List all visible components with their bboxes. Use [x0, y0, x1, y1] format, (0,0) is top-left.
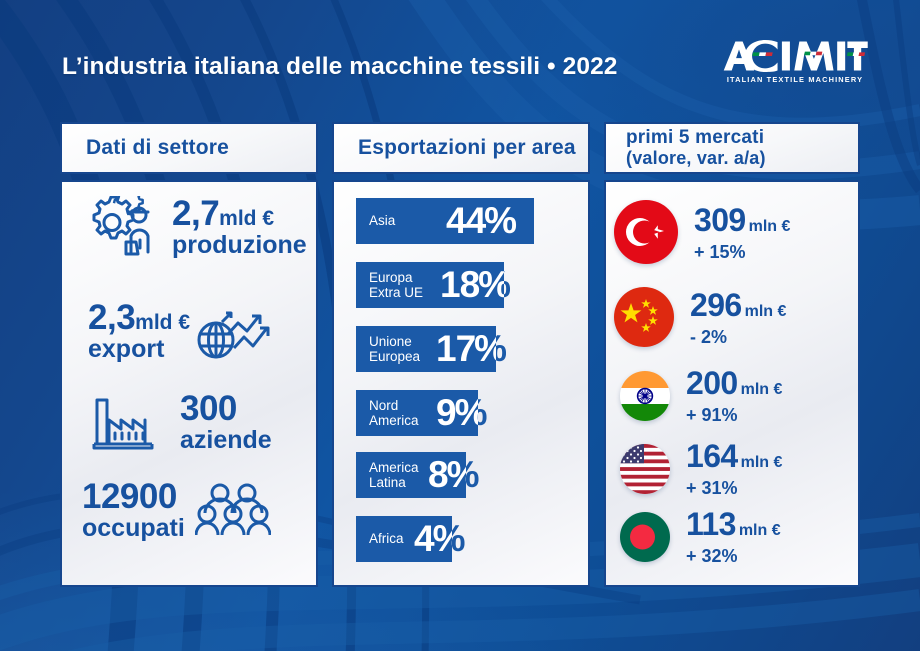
- bar-number-asia: 44: [446, 200, 485, 242]
- sector-card-header: Dati di settore: [60, 122, 318, 174]
- markets-card-header: primi 5 mercati (valore, var. a/a): [604, 122, 860, 174]
- bangladesh-flag-icon: [620, 512, 670, 562]
- bar-row-nord-america: Nord America 9% 9%: [356, 390, 536, 436]
- bar-percent-asia: %: [484, 200, 516, 242]
- market-india-value: 200: [686, 365, 738, 401]
- bar-number-nord-america: 9: [436, 392, 456, 434]
- market-turkey-values: 309mln € + 15%: [694, 204, 790, 261]
- market-india: 200mln € + 91%: [620, 367, 782, 424]
- market-bangladesh: 113mln € + 32%: [620, 508, 781, 565]
- markets-card-title: primi 5 mercati: [626, 127, 764, 148]
- stat-export: 2,3mld € export: [88, 300, 272, 362]
- bar-value-unione-europea: 17%: [436, 328, 506, 370]
- market-usa-value: 164: [686, 438, 738, 474]
- market-bangladesh-value: 113: [686, 506, 736, 542]
- market-china-values: 296mln € - 2%: [690, 289, 786, 346]
- sector-card-title: Dati di settore: [62, 137, 229, 160]
- bar-label-nord-america: Nord America: [356, 398, 419, 428]
- market-turkey-variation: + 15%: [694, 243, 790, 261]
- turkey-flag-icon: [614, 200, 678, 264]
- bar-label-europa-extra-ue: Europa Extra UE: [356, 270, 423, 300]
- market-india-values: 200mln € + 91%: [686, 367, 782, 424]
- stat-produzione-label: produzione: [172, 233, 307, 257]
- markets-card-title-block: primi 5 mercati (valore, var. a/a): [606, 128, 766, 168]
- usa-flag-icon: [620, 444, 670, 494]
- logo-tagline: ITALIAN TEXTILE MACHINERY: [722, 75, 868, 84]
- bar-row-africa: Africa 4% 4%: [356, 516, 506, 562]
- acimit-logo: ITALIAN TEXTILE MACHINERY: [722, 40, 868, 88]
- stat-occupati: 12900 occupati: [82, 480, 271, 540]
- stat-occupati-value: 12900: [82, 477, 177, 516]
- bar-row-america-latina: America Latina 8% 8%: [356, 452, 526, 498]
- market-usa: 164mln € + 31%: [620, 440, 782, 497]
- bar-label-asia: Asia: [356, 213, 395, 228]
- stat-aziende-text: 300 aziende: [180, 392, 272, 452]
- bar-label-unione-europea: Unione Europea: [356, 334, 420, 364]
- stat-export-unit: mld €: [135, 311, 190, 334]
- bar-row-unione-europea: Unione Europea 17% 17%: [356, 326, 556, 372]
- bar-value-europa-extra-ue: 18%: [440, 264, 510, 306]
- india-flag-icon: [620, 371, 670, 421]
- acimit-wordmark-icon: [722, 40, 868, 72]
- market-turkey-value: 309: [694, 202, 746, 238]
- market-usa-values: 164mln € + 31%: [686, 440, 782, 497]
- stat-aziende-value: 300: [180, 389, 237, 428]
- gears-worker-icon: [88, 196, 160, 258]
- bar-number-africa: 4: [414, 518, 434, 560]
- stat-aziende-label: aziende: [180, 428, 272, 452]
- bar-number-america-latina: 8: [428, 454, 448, 496]
- stat-produzione-value: 2,7: [172, 194, 219, 233]
- bar-row-europa-extra-ue: Europa Extra UE 18% 18%: [356, 262, 566, 308]
- bar-label-africa: Africa: [356, 531, 404, 546]
- stat-export-value: 2,3: [88, 298, 135, 337]
- globe-arrows-icon: [194, 300, 272, 362]
- market-china-unit: mln €: [745, 303, 787, 320]
- page-title: L’industria italiana delle macchine tess…: [62, 53, 618, 81]
- stat-produzione-unit: mld €: [219, 207, 274, 230]
- market-china: 296mln € - 2%: [614, 287, 786, 347]
- bar-label-america-latina: America Latina: [356, 460, 419, 490]
- market-bangladesh-values: 113mln € + 32%: [686, 508, 781, 565]
- bar-row-asia: Asia 44% 44%: [356, 198, 586, 244]
- market-bangladesh-unit: mln €: [739, 522, 781, 539]
- stat-aziende: 300 aziende: [92, 392, 272, 452]
- market-china-value: 296: [690, 287, 742, 323]
- factory-icon: [92, 394, 162, 450]
- market-turkey-unit: mln €: [749, 218, 791, 235]
- stat-produzione-text: 2,7mld € produzione: [172, 197, 307, 257]
- bar-value-asia: 44%: [446, 200, 516, 242]
- markets-card-subtitle: (valore, var. a/a): [626, 149, 766, 168]
- exports-card-header: Esportazioni per area: [332, 122, 590, 174]
- market-china-variation: - 2%: [690, 328, 786, 346]
- market-usa-variation: + 31%: [686, 479, 782, 497]
- infographic-canvas: L’industria italiana delle macchine tess…: [0, 0, 920, 651]
- bar-number-unione-europea: 17: [436, 328, 475, 370]
- stat-produzione: 2,7mld € produzione: [88, 196, 307, 258]
- market-india-variation: + 91%: [686, 406, 782, 424]
- stat-occupati-label: occupati: [82, 516, 185, 540]
- stat-export-label: export: [88, 337, 190, 361]
- exports-card-title: Esportazioni per area: [334, 137, 576, 160]
- logo-wordmark: [722, 40, 868, 72]
- china-flag-icon: [614, 287, 674, 347]
- market-bangladesh-variation: + 32%: [686, 547, 781, 565]
- stat-export-text: 2,3mld € export: [88, 301, 190, 361]
- bar-number-europa-extra-ue: 18: [440, 264, 479, 306]
- market-usa-unit: mln €: [741, 454, 783, 471]
- stat-occupati-text: 12900 occupati: [82, 480, 185, 540]
- market-india-unit: mln €: [741, 381, 783, 398]
- market-turkey: 309mln € + 15%: [614, 200, 790, 264]
- people-group-icon: [195, 481, 271, 539]
